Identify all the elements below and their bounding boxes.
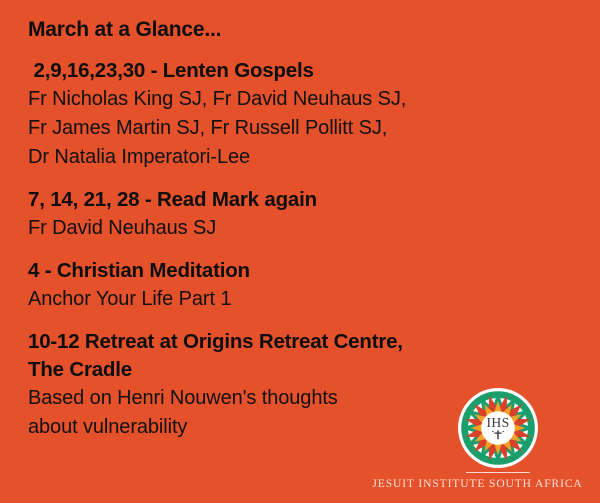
event-block-christian-meditation: 4 - Christian Meditation Anchor Your Lif…	[28, 257, 528, 314]
event-heading: 4 - Christian Meditation	[28, 257, 528, 285]
organisation-logo: IHS JESUIT INSTITUTE SOUTH AFRICA	[370, 388, 585, 492]
event-block-lenten-gospels: 2,9,16,23,30 - Lenten Gospels Fr Nichola…	[28, 57, 528, 172]
event-subtext: Fr David Neuhaus SJ	[28, 214, 528, 243]
event-subtext: Fr Nicholas King SJ, Fr David Neuhaus SJ…	[28, 85, 528, 172]
ihs-sunburst-icon: IHS	[458, 388, 538, 468]
event-heading: 10-12 Retreat at Origins Retreat Centre,…	[28, 328, 528, 384]
event-block-read-mark-again: 7, 14, 21, 28 - Read Mark again Fr David…	[28, 186, 528, 243]
logo-wordmark: JESUIT INSTITUTE SOUTH AFRICA	[370, 478, 585, 490]
page-title: March at a Glance...	[28, 17, 528, 43]
event-subtext: Anchor Your Life Part 1	[28, 285, 528, 314]
logo-divider	[466, 472, 530, 473]
poster-canvas: March at a Glance... 2,9,16,23,30 - Lent…	[0, 0, 600, 503]
event-heading: 2,9,16,23,30 - Lenten Gospels	[28, 57, 528, 85]
event-heading: 7, 14, 21, 28 - Read Mark again	[28, 186, 528, 214]
ihs-monogram-text: IHS	[486, 415, 509, 430]
